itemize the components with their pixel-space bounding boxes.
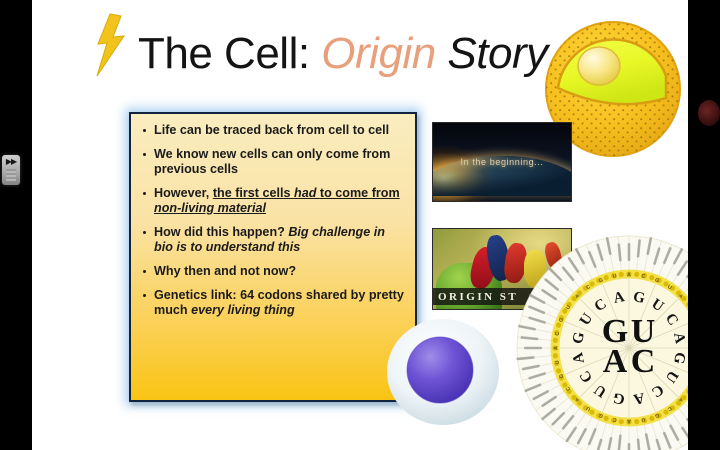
list-item: However, the first cells had to come fro…: [142, 186, 404, 216]
playback-control[interactable]: ▶▶: [2, 155, 20, 185]
bullet-text-segment: Why then and not now?: [154, 264, 296, 278]
page-title: The Cell: Origin Story: [138, 26, 548, 82]
bullet-text-segment: every living thing: [191, 303, 295, 317]
bullet-text-segment: to come from: [320, 186, 400, 200]
fast-forward-icon: ▶▶: [6, 158, 16, 166]
bullet-text-segment: How did this happen?: [154, 225, 288, 239]
diagram-codon-wheel: ACGUACGUACGUACGUACGUACGUACGUACGUGUCAGUCA…: [516, 232, 688, 450]
list-item: We know new cells can only come from pre…: [142, 147, 404, 177]
svg-text:A: A: [627, 418, 631, 424]
title-emphasis: Origin: [321, 29, 435, 78]
presentation-slide: The Cell: Origin Story: [32, 0, 688, 450]
bullet-text-segment: Life can be traced back from cell to cel…: [154, 123, 389, 137]
bullet-text-segment: However,: [154, 186, 213, 200]
comic-title-text: ORIGIN ST: [433, 291, 518, 303]
list-item: How did this happen? Big challenge in bi…: [142, 225, 404, 255]
red-dot: [698, 100, 720, 126]
svg-text:A: A: [553, 346, 559, 350]
svg-text:A: A: [603, 343, 628, 380]
bullet-text-segment: We know new cells can only come from pre…: [154, 147, 390, 176]
bullet-content-box: Life can be traced back from cell to cel…: [129, 112, 417, 402]
photo-in-the-beginning: In the beginning...: [432, 122, 572, 202]
video-player-stage: The Cell: Origin Story: [0, 0, 720, 450]
control-bars: [6, 169, 16, 181]
bullet-list: Life can be traced back from cell to cel…: [142, 123, 404, 318]
list-item: Why then and not now?: [142, 264, 404, 279]
list-item: Genetics link: 64 codons shared by prett…: [142, 288, 404, 318]
lightning-bolt-icon: [94, 14, 128, 76]
bullet-text-segment: non-living material: [154, 201, 266, 215]
bullet-text-segment: the first cells: [213, 186, 294, 200]
svg-text:C: C: [631, 343, 656, 380]
svg-text:A: A: [627, 272, 631, 278]
title-prefix: The Cell:: [138, 29, 321, 78]
photo-caption: In the beginning...: [433, 157, 571, 167]
title-suffix: Story: [436, 29, 548, 78]
list-item: Life can be traced back from cell to cel…: [142, 123, 404, 138]
bullet-text-segment: had: [294, 186, 320, 200]
diagram-purple-cell: [384, 316, 502, 428]
